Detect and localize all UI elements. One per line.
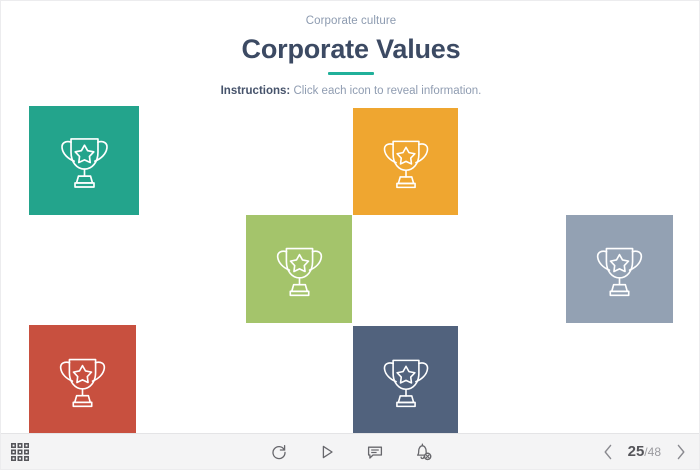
eyebrow-text: Corporate culture: [1, 14, 700, 28]
speech-bubble-icon[interactable]: [364, 441, 386, 463]
trophy-icon: [266, 236, 333, 303]
trophy-icon: [373, 129, 439, 195]
slide-canvas: Corporate culture Corporate Values Instr…: [0, 0, 700, 470]
replay-icon[interactable]: [268, 441, 290, 463]
grid-icon[interactable]: [10, 442, 30, 462]
trophy-icon: [49, 347, 116, 414]
play-icon[interactable]: [316, 441, 338, 463]
tile-trophy-red[interactable]: [29, 325, 136, 435]
bell-off-icon[interactable]: [412, 441, 434, 463]
title-accent-rule: [328, 72, 374, 75]
tile-trophy-orange[interactable]: [353, 108, 458, 215]
next-icon[interactable]: [673, 442, 689, 462]
instructions-body: Click each icon to reveal information.: [290, 85, 481, 97]
instructions-text: Instructions: Click each icon to reveal …: [1, 84, 700, 98]
playback-controls: [1, 434, 700, 470]
page-navigation: 25/48: [600, 434, 689, 470]
trophy-icon: [373, 348, 439, 414]
tile-trophy-teal[interactable]: [29, 106, 139, 215]
page-title: Corporate Values: [1, 34, 700, 65]
page-counter: 25/48: [628, 444, 661, 460]
instructions-label: Instructions:: [221, 85, 291, 97]
trophy-icon: [586, 236, 653, 303]
slide-header: Corporate culture Corporate Values Instr…: [1, 1, 700, 98]
tile-trophy-green[interactable]: [246, 215, 352, 323]
total-pages: 48: [648, 445, 661, 459]
prev-icon[interactable]: [600, 442, 616, 462]
tile-trophy-navy[interactable]: [353, 326, 458, 435]
trophy-icon: [50, 126, 119, 195]
current-page: 25: [628, 443, 645, 460]
tile-trophy-gray[interactable]: [566, 215, 673, 323]
player-toolbar: 25/48: [1, 433, 700, 469]
